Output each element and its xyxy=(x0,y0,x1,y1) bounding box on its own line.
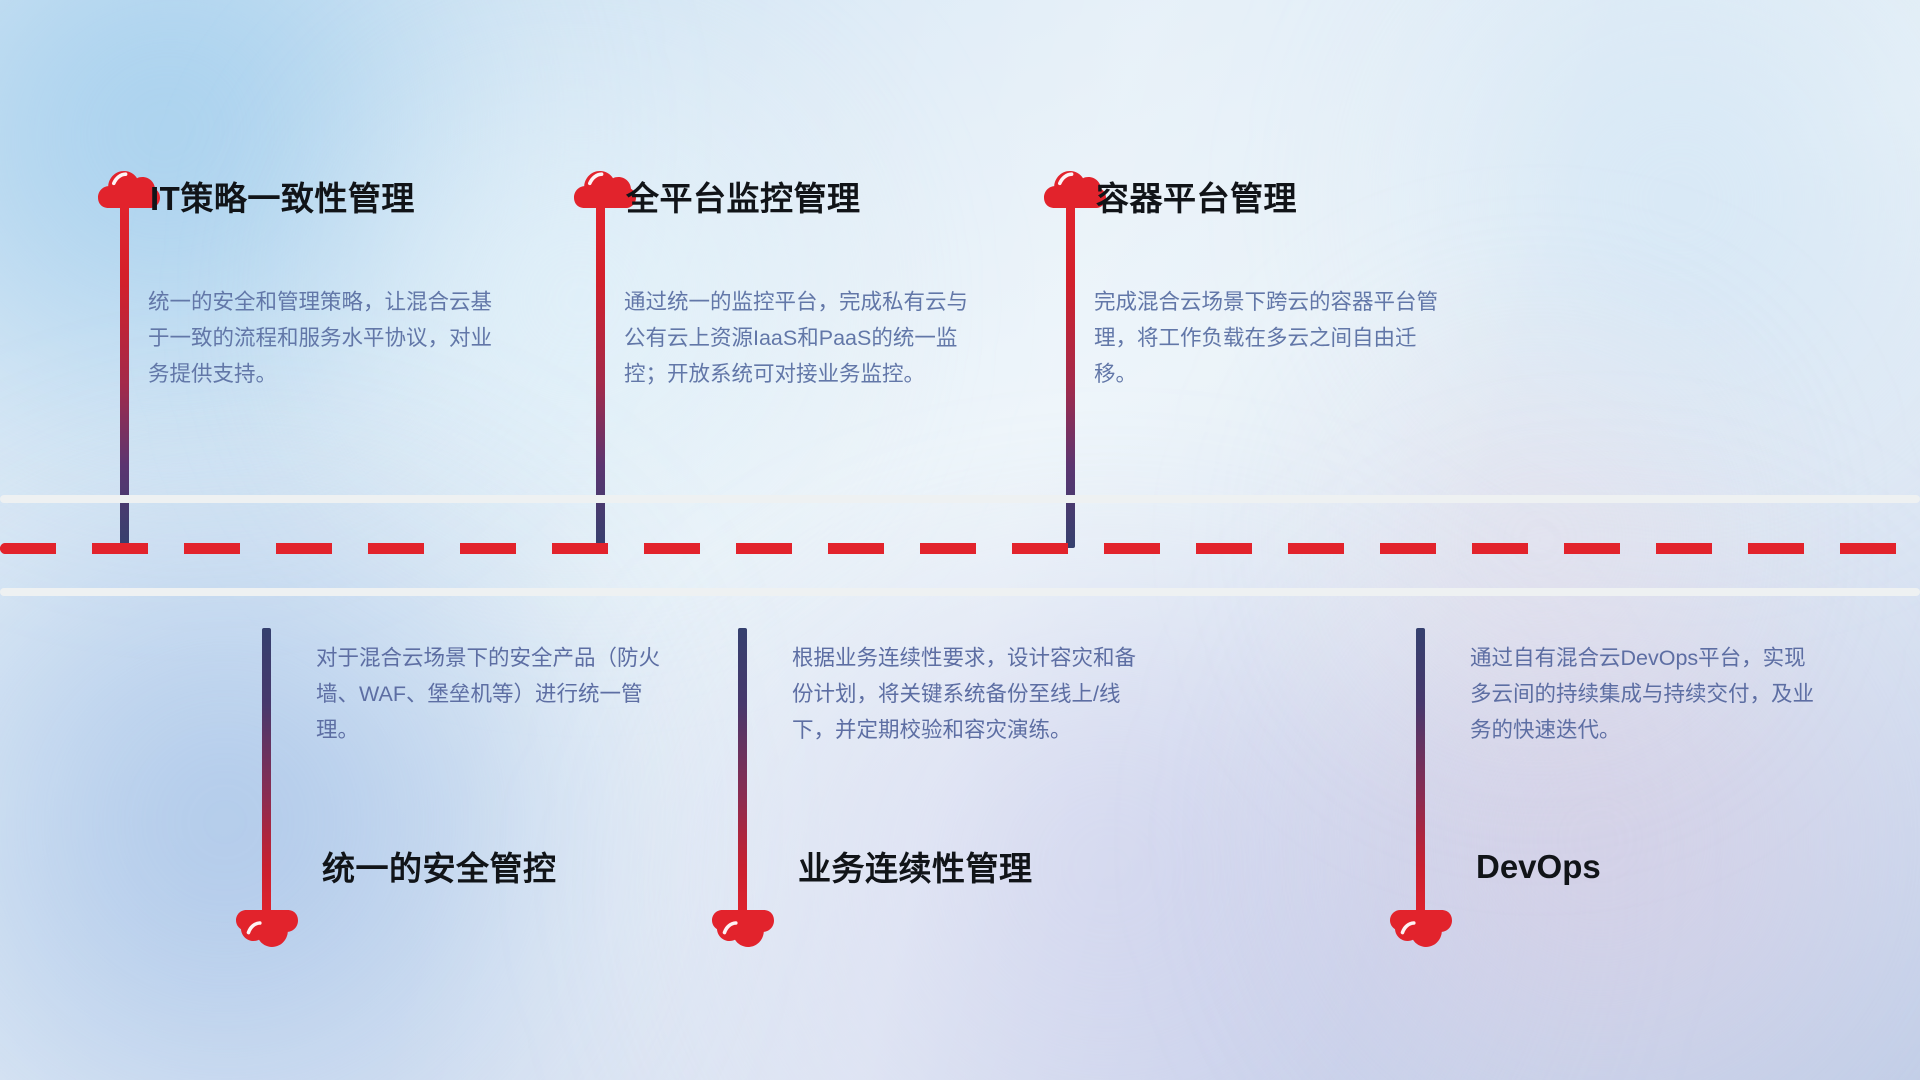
connector-line xyxy=(1416,628,1425,920)
connector-line xyxy=(738,628,747,920)
bottom-item-3-body: 通过自有混合云DevOps平台，实现多云间的持续集成与持续交付，及业务的快速迭代… xyxy=(1470,640,1820,748)
cloud-icon xyxy=(712,909,774,953)
top-item-2-body: 通过统一的监控平台，完成私有云与公有云上资源IaaS和PaaS的统一监控；开放系… xyxy=(624,284,974,392)
top-item-1-title: IT策略一致性管理 xyxy=(150,182,415,215)
top-item-3-title: 容器平台管理 xyxy=(1096,182,1297,215)
cloud-icon xyxy=(1390,909,1452,953)
top-item-1-body: 统一的安全和管理策略，让混合云基于一致的流程和服务水平协议，对业务提供支持。 xyxy=(148,284,498,392)
bottom-item-1-body: 对于混合云场景下的安全产品（防火墙、WAF、堡垒机等）进行统一管理。 xyxy=(316,640,666,748)
divider-rule-bottom xyxy=(0,588,1920,596)
divider-rule-top xyxy=(0,495,1920,503)
bottom-item-1-title: 统一的安全管控 xyxy=(322,852,557,885)
infographic-canvas: IT策略一致性管理 统一的安全和管理策略，让混合云基于一致的流程和服务水平协议，… xyxy=(0,0,1920,1080)
connector-line xyxy=(262,628,271,920)
top-item-3-body: 完成混合云场景下跨云的容器平台管理，将工作负载在多云之间自由迁移。 xyxy=(1094,284,1444,392)
cloud-icon xyxy=(236,909,298,953)
divider-dashed-line xyxy=(0,543,1920,554)
top-item-2-title: 全平台监控管理 xyxy=(626,182,861,215)
bottom-item-3-title: DevOps xyxy=(1476,850,1601,883)
bottom-item-2-body: 根据业务连续性要求，设计容灾和备份计划，将关键系统备份至线上/线下，并定期校验和… xyxy=(792,640,1142,748)
bottom-item-2-title: 业务连续性管理 xyxy=(798,852,1033,885)
